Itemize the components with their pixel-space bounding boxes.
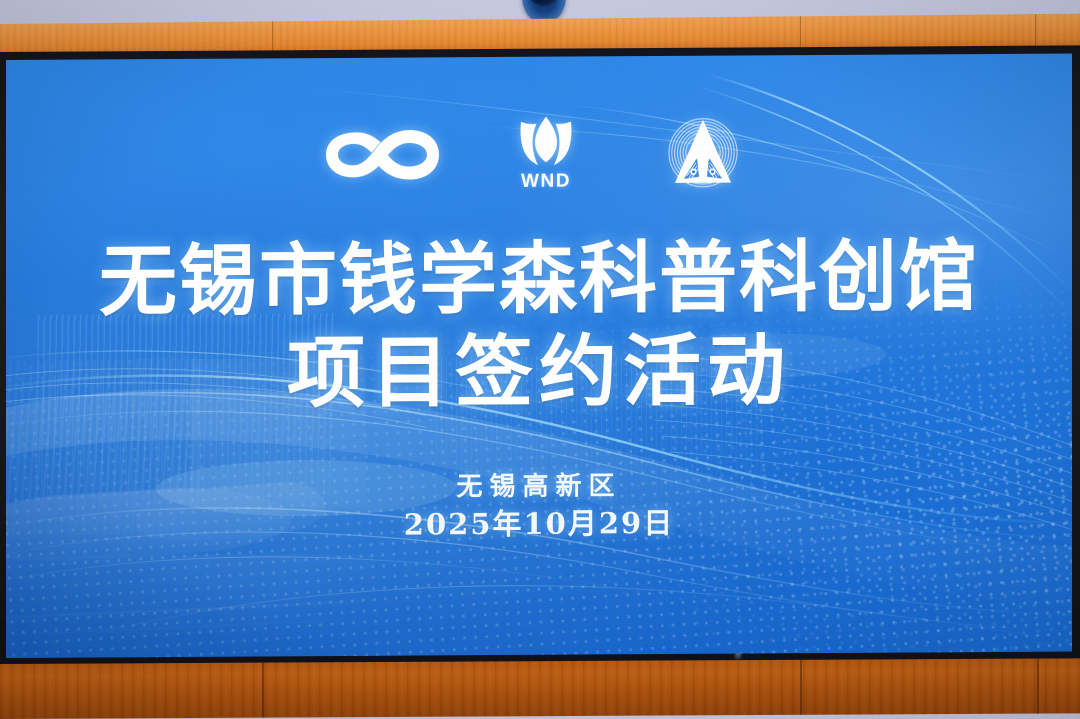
title-line-2: 项目签约活动 bbox=[6, 322, 1072, 422]
subtitle-date: 2025年10月29日 bbox=[6, 502, 1072, 546]
science-museum-emblem-logo-icon bbox=[651, 116, 755, 189]
event-subtitle: 无锡高新区 2025年10月29日 bbox=[6, 465, 1072, 546]
wnd-logo-caption: WND bbox=[521, 171, 571, 193]
wooden-wall-panelling bbox=[0, 658, 1080, 719]
title-line-1: 无锡市钱学森科普科创馆 bbox=[6, 229, 1072, 329]
logo-row: WND bbox=[6, 105, 1072, 202]
camera-lens bbox=[530, 0, 558, 6]
wnd-lotus-logo-icon: WND bbox=[507, 114, 585, 192]
screenshot-root: WND bbox=[0, 0, 1080, 719]
led-screen: WND bbox=[6, 53, 1072, 658]
event-title: 无锡市钱学森科普科创馆 项目签约活动 bbox=[6, 229, 1072, 422]
infinity-ribbon-logo-icon bbox=[323, 125, 441, 184]
